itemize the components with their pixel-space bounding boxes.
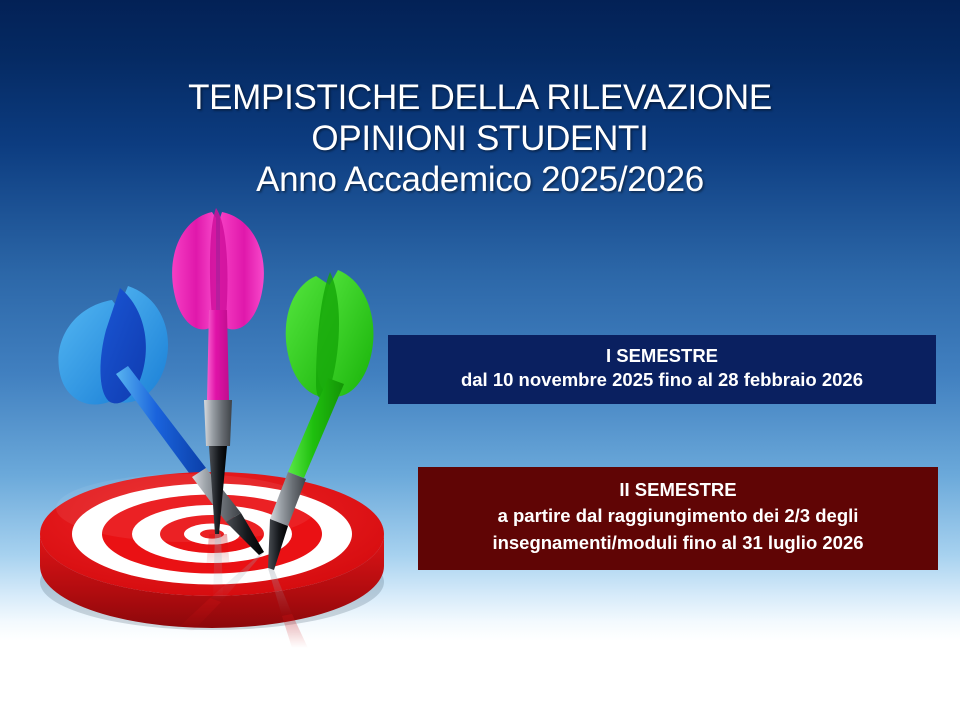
semester-2-detail-line-2: insegnamenti/moduli fino al 31 luglio 20… <box>418 530 938 556</box>
blue-dart-shaft <box>116 366 206 477</box>
semester-1-detail-line-1: dal 10 novembre 2025 fino al 28 febbraio… <box>388 368 936 392</box>
semester-2-box: II SEMESTRE a partire dal raggiungimento… <box>418 467 938 570</box>
magenta-dart-shaft <box>207 310 229 400</box>
dartboard-with-three-darts <box>16 178 416 648</box>
semester-2-heading: II SEMESTRE <box>418 477 938 503</box>
magenta-dart-barrel <box>204 400 232 446</box>
semester-1-box: I SEMESTRE dal 10 novembre 2025 fino al … <box>388 335 936 404</box>
green-dart <box>286 270 374 478</box>
semester-1-heading: I SEMESTRE <box>388 344 936 368</box>
semester-2-detail-line-1: a partire dal raggiungimento dei 2/3 deg… <box>418 503 938 529</box>
magenta-dart <box>172 208 264 400</box>
slide-canvas: TEMPISTICHE DELLA RILEVAZIONE OPINIONI S… <box>0 0 960 720</box>
